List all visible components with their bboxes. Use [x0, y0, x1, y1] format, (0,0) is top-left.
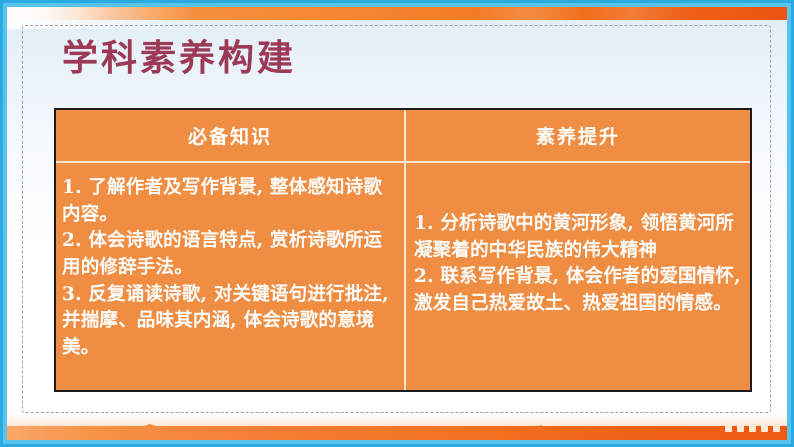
slide-canvas: 学科素养构建 必备知识 素养提升 1. 了解作者及写作背景, 整体感知诗歌内容。… — [0, 0, 794, 447]
decorative-dot — [773, 425, 780, 432]
decorative-dot — [725, 425, 732, 432]
table-header-label: 素养提升 — [406, 110, 750, 161]
top-orange-band — [7, 7, 787, 20]
bottom-orange-band — [7, 414, 787, 440]
page-title: 学科素养构建 — [62, 40, 296, 76]
slide-content-area: 学科素养构建 必备知识 素养提升 1. 了解作者及写作背景, 整体感知诗歌内容。… — [7, 7, 787, 440]
knowledge-table: 必备知识 素养提升 1. 了解作者及写作背景, 整体感知诗歌内容。 2. 体会诗… — [54, 108, 752, 392]
decorative-dot — [749, 425, 756, 432]
decorative-dot — [761, 425, 768, 432]
table-cell-text: 1. 了解作者及写作背景, 整体感知诗歌内容。 2. 体会诗歌的语言特点, 赏析… — [62, 175, 400, 361]
table-cell-text: 1. 分析诗歌中的黄河形象, 领悟黄河所凝聚着的中华民族的伟大精神 2. 联系写… — [414, 211, 748, 318]
decorative-dot — [737, 425, 744, 432]
table-body-row: 1. 了解作者及写作背景, 整体感知诗歌内容。 2. 体会诗歌的语言特点, 赏析… — [56, 163, 750, 390]
table-header-cell-essential-knowledge: 必备知识 — [56, 110, 404, 161]
bottom-band-dot-group — [725, 425, 780, 432]
bottom-band-base — [7, 426, 787, 440]
table-cell-essential-knowledge: 1. 了解作者及写作背景, 整体感知诗歌内容。 2. 体会诗歌的语言特点, 赏析… — [56, 163, 404, 390]
table-cell-literacy-enhancement: 1. 分析诗歌中的黄河形象, 领悟黄河所凝聚着的中华民族的伟大精神 2. 联系写… — [404, 163, 750, 390]
table-header-label: 必备知识 — [56, 110, 404, 161]
table-header-row: 必备知识 素养提升 — [56, 110, 750, 163]
table-header-cell-literacy-enhancement: 素养提升 — [404, 110, 750, 161]
